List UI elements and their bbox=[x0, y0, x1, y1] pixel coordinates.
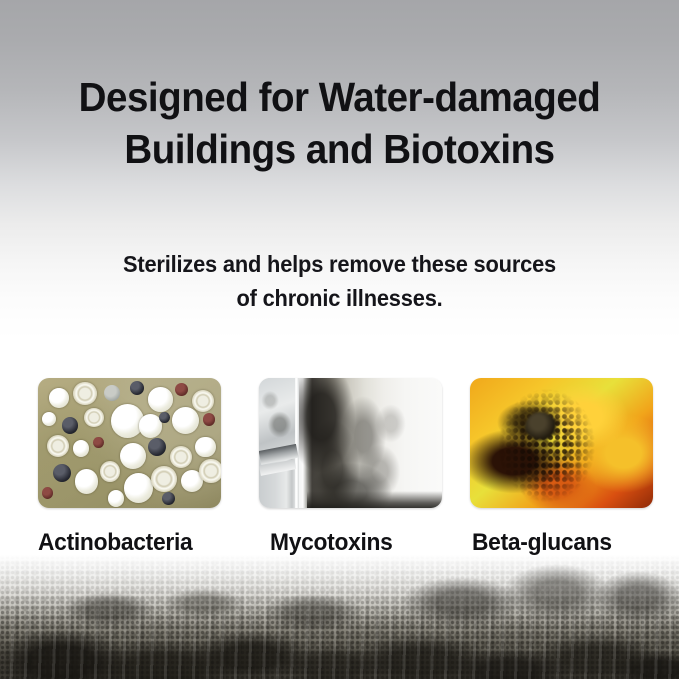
mould-stained-wall-texture bbox=[0, 555, 679, 679]
subtitle: Sterilizes and helps remove these source… bbox=[17, 247, 662, 315]
source-label-beta-glucans: Beta-glucans bbox=[472, 528, 612, 558]
mould-baseline-shadow bbox=[307, 491, 442, 508]
spore-particles bbox=[470, 378, 653, 508]
texture-streak-layer bbox=[0, 555, 679, 679]
window-frame bbox=[259, 378, 308, 508]
page-title: Designed for Water-damaged Buildings and… bbox=[20, 71, 658, 175]
source-card-beta-glucans bbox=[470, 378, 653, 508]
source-label-mycotoxins: Mycotoxins bbox=[270, 528, 393, 558]
agar-plate-bacterial-colonies-photo bbox=[38, 378, 221, 508]
window-glass bbox=[259, 378, 296, 453]
source-card-actinobacteria bbox=[38, 378, 221, 508]
source-image-row bbox=[38, 378, 646, 510]
mouldy-window-wall-photo bbox=[259, 378, 442, 508]
source-label-actinobacteria: Actinobacteria bbox=[38, 528, 192, 558]
orange-spore-cloud-photo bbox=[470, 378, 653, 508]
source-card-mycotoxins bbox=[259, 378, 442, 508]
product-feature-poster: Designed for Water-damaged Buildings and… bbox=[0, 0, 679, 679]
spore-cluster-core bbox=[525, 412, 556, 441]
